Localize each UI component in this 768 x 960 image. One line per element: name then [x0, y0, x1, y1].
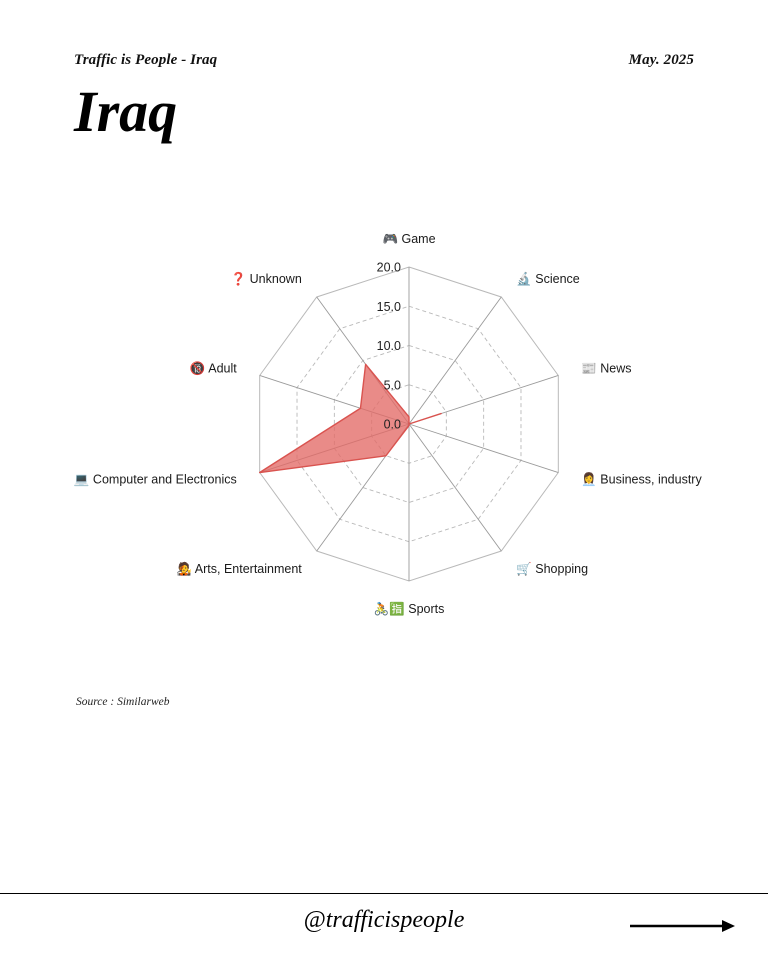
radar-category-label-adult: 🔞 Adult: [190, 361, 237, 376]
radial-tick-label: 0.0: [384, 418, 401, 432]
category-icon: 💻: [74, 472, 93, 486]
page-header: Traffic is People - Iraq May. 2025: [74, 52, 694, 69]
category-name: Business, industry: [600, 472, 702, 486]
page-title: Iraq: [74, 82, 177, 143]
category-icon: 📰: [581, 362, 600, 376]
category-name: Unknown: [250, 272, 302, 286]
header-kicker: Traffic is People - Iraq: [74, 52, 217, 69]
radial-tick-label: 20.0: [377, 261, 401, 275]
svg-text:🛒 Shopping: 🛒 Shopping: [516, 561, 588, 576]
radar-category-label-shopping: 🛒 Shopping: [516, 561, 588, 576]
radar-category-label-sports: 🚴🈯 Sports: [374, 601, 445, 616]
radar-chart: 0.05.010.015.020.0🎮 Game🔬 Science📰 News👩…: [0, 228, 768, 648]
category-name: Computer and Electronics: [93, 472, 237, 486]
header-date: May. 2025: [629, 52, 694, 69]
page-footer: @trafficispeople: [0, 893, 768, 960]
category-name: Arts, Entertainment: [195, 562, 303, 576]
radar-category-label-arts-entertainment: 🧑‍🎤 Arts, Entertainment: [176, 561, 302, 576]
category-name: News: [600, 362, 631, 376]
category-icon: 👩‍💼: [581, 471, 600, 486]
category-name: Science: [535, 272, 580, 286]
radial-tick-label: 5.0: [384, 378, 401, 392]
svg-text:🚴🈯 Sports: 🚴🈯 Sports: [374, 601, 445, 616]
radar-category-label-science: 🔬 Science: [516, 271, 580, 286]
radar-axis-spoke: [409, 297, 501, 424]
svg-text:💻 Computer and Electronics: 💻 Computer and Electronics: [74, 472, 237, 486]
category-name: Sports: [408, 602, 444, 616]
svg-text:🔬 Science: 🔬 Science: [516, 271, 580, 286]
category-icon: 🚴🈯: [374, 601, 409, 616]
svg-text:🎮 Game: 🎮 Game: [382, 232, 435, 246]
radar-category-label-unknown: ❓ Unknown: [231, 271, 302, 286]
svg-text:❓ Unknown: ❓ Unknown: [231, 271, 302, 286]
category-icon: 🔞: [190, 361, 208, 376]
radar-category-label-news: 📰 News: [581, 362, 631, 376]
radar-category-label-game: 🎮 Game: [382, 232, 435, 246]
radial-tick-label: 10.0: [377, 339, 401, 353]
category-name: Shopping: [535, 562, 588, 576]
svg-text:👩‍💼 Business, industry: 👩‍💼 Business, industry: [581, 471, 702, 486]
radar-series-iraq: [260, 364, 441, 472]
arrow-right-icon: [628, 915, 736, 937]
category-name: Game: [402, 232, 436, 246]
radial-tick-label: 15.0: [377, 300, 401, 314]
svg-text:🔞 Adult: 🔞 Adult: [190, 361, 237, 376]
category-icon: ❓: [231, 271, 250, 286]
source-note: Source : Similarweb: [76, 696, 169, 708]
radar-category-label-computer-and-electronics: 💻 Computer and Electronics: [74, 472, 237, 486]
svg-text:🧑‍🎤 Arts, Entertainment: 🧑‍🎤 Arts, Entertainment: [176, 561, 302, 576]
radar-axis-spoke: [409, 424, 501, 551]
category-icon: 🧑‍🎤: [176, 561, 194, 576]
category-icon: 🎮: [382, 232, 401, 246]
category-icon: 🔬: [516, 271, 535, 286]
svg-text:📰 News: 📰 News: [581, 362, 631, 376]
radar-category-label-business-industry: 👩‍💼 Business, industry: [581, 471, 702, 486]
category-icon: 🛒: [516, 561, 535, 576]
radar-chart-svg: 0.05.010.015.020.0🎮 Game🔬 Science📰 News👩…: [0, 228, 768, 648]
category-name: Adult: [208, 362, 237, 376]
